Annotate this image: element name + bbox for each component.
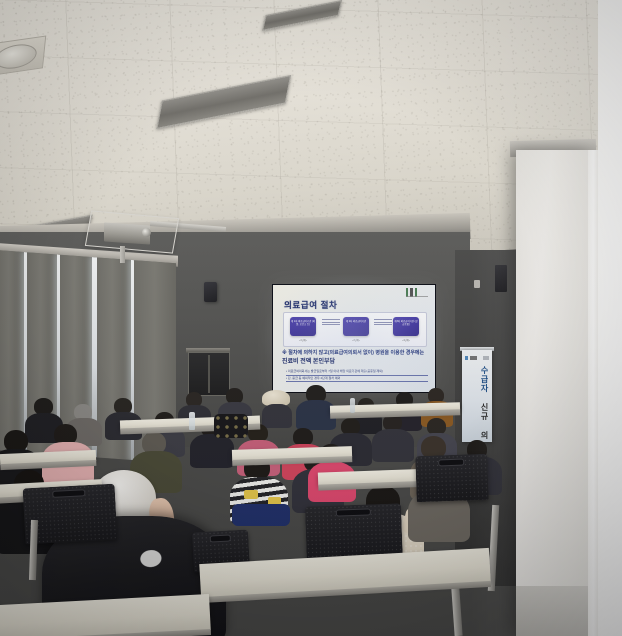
diagram-box-stage1: 제 1차 의료급여기관 (의원, 보건소 등) — [290, 317, 316, 336]
organization-logo — [404, 288, 430, 297]
slide-title: 의료급여 절차 — [284, 299, 337, 311]
diagram-caption-stage2: <2단계> — [343, 338, 369, 342]
diagram-box-stage2: 제 2차 의료급여기관 — [343, 317, 369, 336]
roll-up-banner: 수급자 신규 의 — [462, 350, 492, 442]
slide-note: ※ 절차에 의하지 않고(의료급여의뢰서 없이) 병원을 이용한 경우에는 진료… — [282, 349, 428, 367]
wall-control-plate — [474, 280, 480, 288]
projector-lens — [142, 228, 151, 237]
banner-line1: 수급자 — [480, 366, 489, 393]
wall-speaker — [204, 282, 217, 302]
diagram-connector-2 — [371, 318, 395, 327]
slide-bullet-2: • 단, 응급 등 예외적인 경우 2단계 절차 예외 — [286, 376, 428, 383]
presentation-slide: 의료급여 절차 제 1차 의료급여기관 (의원, 보건소 등) <1단계> 제 … — [273, 285, 435, 392]
slide-sub-bullets: • 의료급여의뢰서는 발급일로부터 7일 이내 해당 의료기관에 제출(공휴일 … — [286, 369, 428, 382]
water-bottle — [350, 398, 355, 413]
diagram-connector-1 — [319, 318, 343, 327]
diagram-caption-stage1: <1단계> — [290, 338, 316, 342]
table-leg — [29, 520, 38, 580]
jacket-logo — [137, 549, 165, 571]
right-wall-bright — [598, 0, 622, 636]
table-foreground — [0, 594, 211, 636]
projection-screen: 의료급여 절차 제 1차 의료급여기관 (의원, 보건소 등) <1단계> 제 … — [272, 284, 436, 393]
banner-line2: 신규 의 — [480, 403, 489, 440]
water-bottle — [189, 412, 195, 430]
process-diagram: 제 1차 의료급여기관 (의원, 보건소 등) <1단계> 제 2차 의료급여기… — [283, 312, 427, 347]
chair[interactable] — [415, 454, 489, 502]
slide-note-line2: 이용한 경우에는 — [391, 350, 425, 356]
white-partition-column — [516, 150, 594, 636]
wall-speaker — [495, 265, 507, 292]
handbag — [214, 414, 248, 438]
dark-storage-cabinet — [188, 352, 230, 396]
diagram-caption-stage3: <3단계> — [393, 338, 419, 342]
lecture-room-photo: 의료급여 절차 제 1차 의료급여기관 (의원, 보건소 등) <1단계> 제 … — [0, 0, 622, 636]
slide-note-line1: ※ 절차에 의하지 않고(의료급여의뢰서 없이) 병원을 — [282, 350, 389, 356]
projector-mount-arm — [120, 246, 125, 263]
banner-logo-icon — [465, 356, 477, 360]
column-base — [516, 586, 590, 636]
banner-text: 수급자 신규 의 — [466, 366, 490, 440]
banner-secondary-mark — [483, 356, 489, 360]
diagram-box-stage3: 제3차 의료급여기관 (상급종합) — [393, 317, 419, 336]
slide-note-highlight: 진료비 전액 본인부담 — [282, 359, 335, 365]
table-row-mid — [232, 446, 352, 461]
